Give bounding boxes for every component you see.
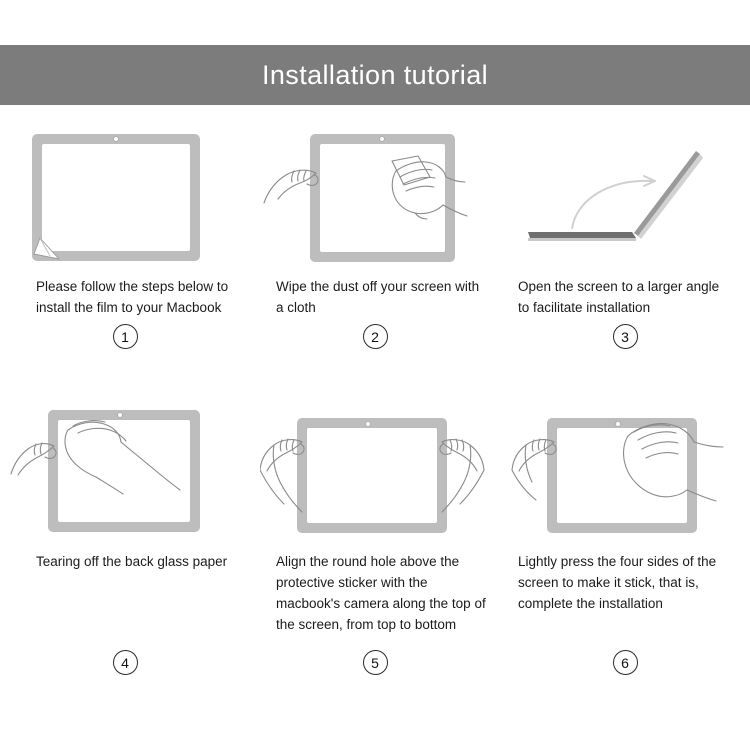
step-caption-2: Wipe the dust off your screen with a clo…: [276, 276, 486, 318]
step-card-5: Align the round hole above the protectiv…: [250, 390, 500, 675]
illustration-screen-with-peeling-corner: [10, 125, 240, 270]
step-number-badge-2: 2: [363, 324, 388, 349]
step-badge-wrap-6: 6: [500, 650, 750, 675]
page-title: Installation tutorial: [262, 62, 488, 89]
step-caption-3: Open the screen to a larger angle to fac…: [518, 276, 733, 318]
illustration-laptop-opening-angle: [510, 125, 740, 270]
steps-row-1: Please follow the steps below to install…: [0, 125, 750, 390]
step-card-2: Wipe the dust off your screen with a clo…: [250, 125, 500, 390]
step-number-badge-6: 6: [613, 650, 638, 675]
illustration-two-hands-aligning-film: [260, 400, 490, 545]
illustration-hands-peeling-back-paper: [10, 400, 240, 545]
illustration-hand-pressing-screen: [510, 400, 740, 545]
illustration-hand-wiping-screen-with-cloth: [260, 125, 490, 270]
step-number-badge-4: 4: [113, 650, 138, 675]
step-caption-4: Tearing off the back glass paper: [36, 551, 236, 572]
step-card-4: Tearing off the back glass paper 4: [0, 390, 250, 675]
steps-grid: Please follow the steps below to install…: [0, 125, 750, 675]
step-card-3: Open the screen to a larger angle to fac…: [500, 125, 750, 390]
step-badge-wrap-2: 2: [250, 324, 500, 349]
step-caption-6: Lightly press the four sides of the scre…: [518, 551, 733, 614]
steps-row-2: Tearing off the back glass paper 4: [0, 390, 750, 675]
step-number-badge-1: 1: [113, 324, 138, 349]
step-badge-wrap-1: 1: [0, 324, 250, 349]
step-badge-wrap-4: 4: [0, 650, 250, 675]
step-badge-wrap-3: 3: [500, 324, 750, 349]
header-banner: Installation tutorial: [0, 45, 750, 105]
step-badge-wrap-5: 5: [250, 650, 500, 675]
step-number-badge-3: 3: [613, 324, 638, 349]
step-card-6: Lightly press the four sides of the scre…: [500, 390, 750, 675]
step-number-badge-5: 5: [363, 650, 388, 675]
step-card-1: Please follow the steps below to install…: [0, 125, 250, 390]
step-caption-1: Please follow the steps below to install…: [36, 276, 236, 318]
step-caption-5: Align the round hole above the protectiv…: [276, 551, 486, 635]
